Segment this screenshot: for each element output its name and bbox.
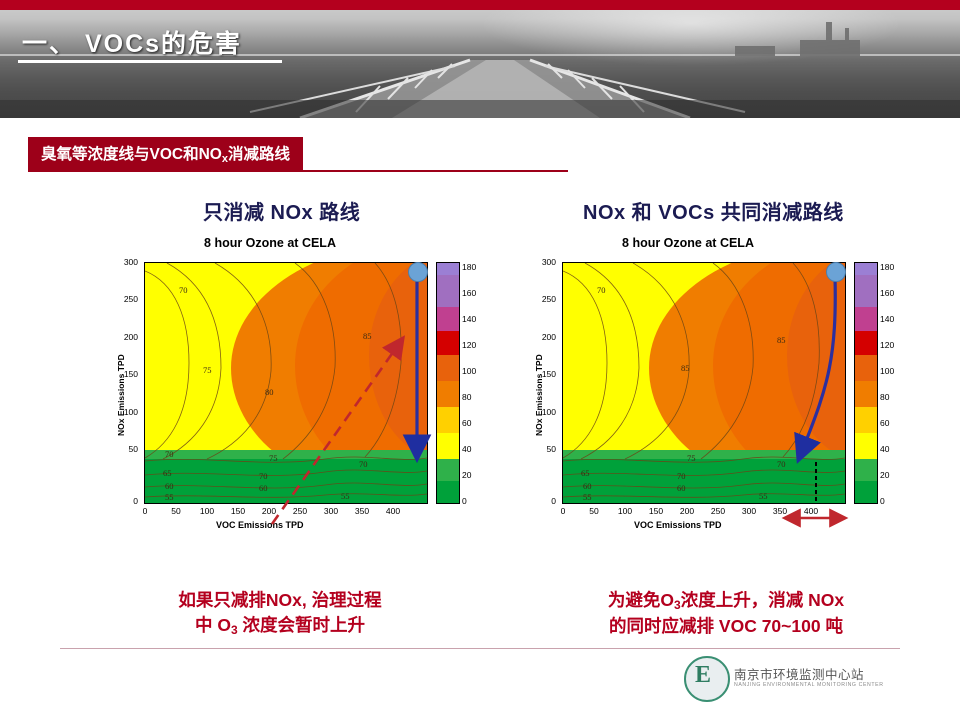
left-caption-line-1: 如果只减排NOx, 治理过程 (120, 588, 440, 613)
logo-name-cn: 南京市环境监测中心站 (734, 664, 864, 683)
right-panel-heading: NOx 和 VOCs 共同消减路线 (583, 196, 844, 225)
left-caption-text-d: 中 O (195, 615, 231, 635)
footer-divider (60, 648, 900, 649)
left-caption-text-e: 浓度会暂时上升 (238, 615, 365, 635)
section-label: 臭氧等浓度线与VOC和NOx消减路线 (28, 137, 303, 171)
page-title: 一、 VOCs的危害 (22, 24, 242, 60)
title-underline (18, 60, 282, 63)
right-caption-line-2: 的同时应减排 VOC 70~100 吨 (556, 614, 896, 639)
left-caption-text-a: 如果只减排 (178, 590, 266, 610)
left-caption-subscript: 3 (231, 623, 238, 637)
left-panel-heading: 只消减 NOx 路线 (203, 196, 360, 225)
left-figure: 8 hour Ozone at CELA (110, 236, 470, 536)
header-red-bar (0, 0, 960, 10)
left-caption: 如果只减排NOx, 治理过程 中 O3 浓度会暂时上升 (120, 588, 440, 640)
right-caption: 为避免O3浓度上升，消减 NOx 的同时应减排 VOC 70~100 吨 (556, 588, 896, 640)
left-caption-text-b: NOx (266, 590, 302, 610)
right-caption-line-1: 为避免O3浓度上升，消减 NOx (556, 588, 896, 614)
right-start-marker (826, 262, 846, 282)
section-label-wrap: 臭氧等浓度线与VOC和NOx消减路线 (28, 137, 303, 171)
right-caption-subscript: 3 (674, 598, 681, 612)
right-figure: 8 hour Ozone at CELA (528, 236, 888, 536)
logo-name-en: NANJING ENVIRONMENTAL MONITORING CENTER (734, 682, 884, 688)
right-caption-text-b: 浓度上升，消减 NOx (681, 590, 844, 610)
footer-logo: E 南京市环境监测中心站 NANJING ENVIRONMENTAL MONIT… (684, 656, 896, 710)
section-label-text-2: 消减路线 (228, 146, 290, 163)
header-banner: 一、 VOCs的危害 (0, 0, 960, 118)
logo-mark: E (695, 662, 711, 689)
left-start-marker (408, 262, 428, 282)
right-caption-text-a: 为避免O (608, 590, 674, 610)
left-caption-line-2: 中 O3 浓度会暂时上升 (120, 613, 440, 639)
left-caption-text-c: , 治理过程 (302, 590, 382, 610)
section-label-text-1: 臭氧等浓度线与VOC和NO (41, 146, 222, 163)
